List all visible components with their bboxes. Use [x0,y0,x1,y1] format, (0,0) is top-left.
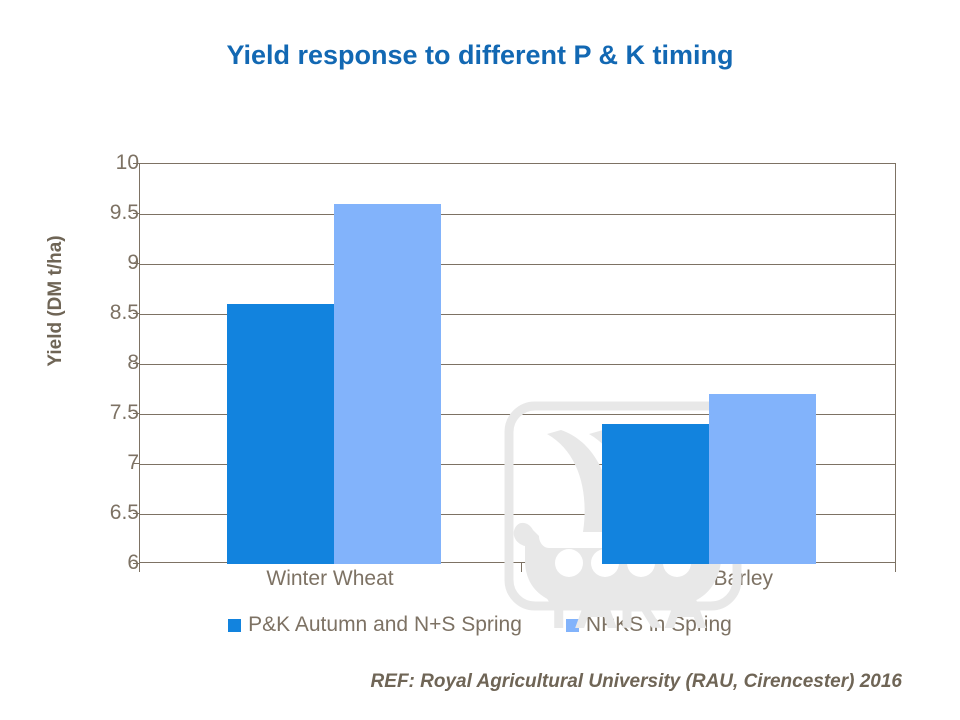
bar-winter-wheat-npks-spring [334,204,441,564]
y-tick-label-9: 9 [79,251,139,275]
legend-swatch-icon [566,619,579,632]
bar-winter-barley-npks-spring [709,394,816,564]
chart-legend: P&K Autumn and N+S Spring NPKS in Spring [0,613,960,637]
y-axis-title: Yield (DM t/ha) [45,211,67,391]
bar-winter-wheat-pk-autumn [227,304,334,564]
x-tick-end [895,563,896,572]
legend-swatch-icon [228,619,241,632]
y-tick-label-9-5: 9.5 [79,201,139,225]
x-category-winter-barley: Winter Barley [560,567,860,591]
reference-note: REF: Royal Agricultural University (RAU,… [371,671,902,693]
y-tick-label-10: 10 [79,151,139,175]
x-tick-start [139,563,140,572]
gridline-9 [140,264,895,265]
gridline-9-5 [140,214,895,215]
y-tick-label-6: 6 [79,551,139,575]
legend-item-npks-spring[interactable]: NPKS in Spring [566,613,732,637]
chart-container: Yield response to different P & K timing… [0,0,960,720]
y-tick-label-8-5: 8.5 [79,301,139,325]
y-tick-label-6-5: 6.5 [79,501,139,525]
bar-winter-barley-pk-autumn [602,424,709,564]
y-axis: 10 9.5 9 8.5 8 7.5 7 6.5 6 [68,163,139,563]
x-category-winter-wheat: Winter Wheat [180,567,480,591]
x-tick-middle [521,563,522,572]
legend-label-pk-autumn: P&K Autumn and N+S Spring [248,613,522,637]
y-tick-label-8: 8 [79,351,139,375]
legend-item-pk-autumn[interactable]: P&K Autumn and N+S Spring [228,613,522,637]
chart-title: Yield response to different P & K timing [0,40,960,71]
y-tick-label-7-5: 7.5 [79,401,139,425]
y-tick-label-7: 7 [79,451,139,475]
legend-label-npks-spring: NPKS in Spring [586,613,732,637]
plot-area: YARA [139,163,896,563]
